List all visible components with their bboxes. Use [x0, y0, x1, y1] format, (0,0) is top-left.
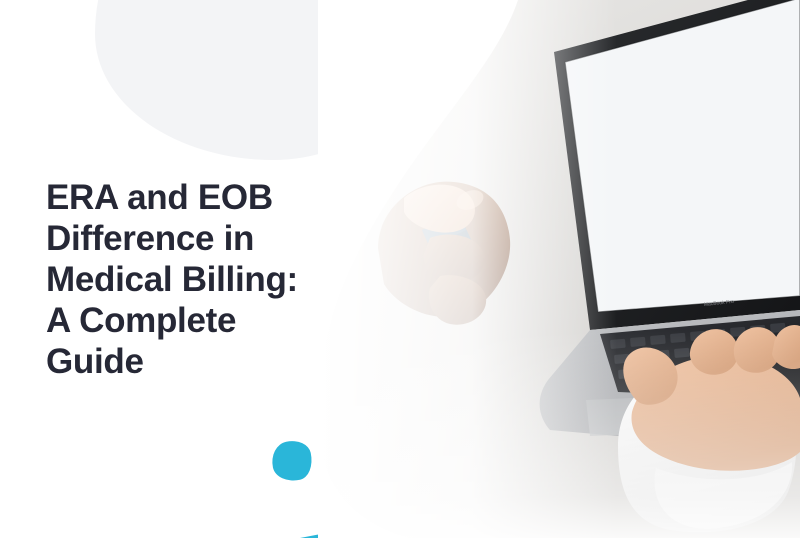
headline-line-4: A Complete — [46, 301, 346, 342]
headline-line-5: Guide — [46, 342, 346, 383]
hero-photo-laptop-dashboard: RXNT Practice Management First Name Last… — [318, 0, 800, 538]
headline-line-3: Medical Billing: — [46, 260, 346, 301]
headline-line-1: ERA and EOB — [46, 178, 346, 219]
headline-line-2: Difference in — [46, 219, 346, 260]
poster-canvas: RXNT Practice Management First Name Last… — [0, 0, 800, 538]
page-title: ERA and EOB Difference in Medical Billin… — [46, 178, 346, 383]
decorative-teal-teardrop — [268, 437, 315, 484]
